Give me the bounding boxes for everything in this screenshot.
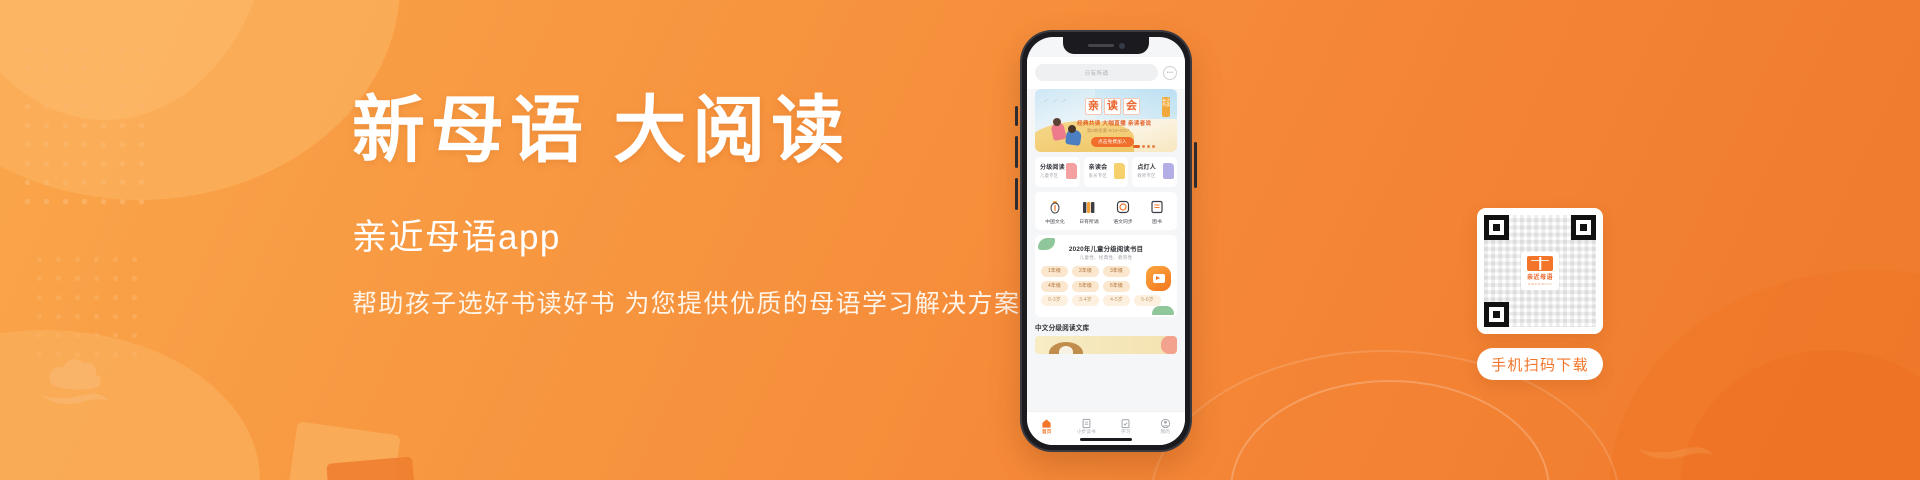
grade-chip[interactable]: 3年级 bbox=[1103, 266, 1130, 277]
booklist-title: 2020年儿童分级阅读书目 bbox=[1041, 244, 1171, 253]
ring-decoration bbox=[1230, 380, 1550, 480]
dot-pattern-decoration-2 bbox=[30, 250, 140, 370]
phone-volume-up-button bbox=[1015, 136, 1018, 168]
app-content: 日有所诵 ••• ୵ ୵ ୵ 亲 读 会 bbox=[1027, 37, 1185, 445]
download-block: 亲近母语 QINJIN MUYU 手机扫码下载 bbox=[1477, 208, 1641, 380]
books-icon bbox=[1081, 199, 1097, 215]
library-card[interactable] bbox=[1035, 336, 1177, 354]
phone-notch bbox=[1063, 37, 1149, 54]
age-chip[interactable]: 4-5岁 bbox=[1103, 295, 1130, 306]
circle-sync-icon bbox=[1115, 199, 1131, 215]
banner-subtitle: 亲近母语app bbox=[352, 217, 1032, 259]
quick-link-label: 图书 bbox=[1141, 218, 1173, 225]
bookmark-icon bbox=[1163, 163, 1174, 179]
quick-link-label: 中国文化 bbox=[1039, 218, 1071, 225]
home-icon bbox=[1041, 416, 1052, 427]
phone-screen: 日有所诵 ••• ୵ ୵ ୵ 亲 读 会 bbox=[1027, 37, 1185, 445]
open-book-logo-icon bbox=[1527, 256, 1553, 271]
quick-link-chinese-culture[interactable]: 中国文化 bbox=[1039, 199, 1071, 225]
tab-study[interactable]: 学习 bbox=[1106, 416, 1146, 435]
quick-link-textbook-sync[interactable]: 语文同步 bbox=[1107, 199, 1139, 225]
front-camera-icon bbox=[1119, 43, 1125, 49]
banner-headline: 新母语 大阅读 bbox=[352, 92, 1032, 169]
background-blob-bottom-right bbox=[1610, 270, 1920, 480]
grade-chip[interactable]: 2年级 bbox=[1072, 266, 1099, 277]
background-blob-bottom-left bbox=[0, 330, 260, 480]
book-icon bbox=[1149, 199, 1165, 215]
clipboard-check-icon bbox=[1120, 416, 1131, 427]
tab-label: 首页 bbox=[1027, 429, 1067, 435]
logo-text-cn: 亲近母语 bbox=[1527, 272, 1553, 281]
promo-child-head-1 bbox=[1053, 118, 1061, 126]
cube-decoration bbox=[283, 421, 400, 480]
age-chip[interactable]: 3-4岁 bbox=[1072, 295, 1099, 306]
cloud-decoration-icon-3 bbox=[1630, 400, 1750, 470]
grade-chip[interactable]: 4年级 bbox=[1041, 281, 1068, 292]
background-blob-top-left bbox=[0, 0, 400, 200]
age-chip-row: 0-3岁 3-4岁 4-5岁 5-6岁 bbox=[1041, 295, 1171, 306]
carousel-dot[interactable] bbox=[1152, 145, 1155, 148]
qr-code-card: 亲近母语 QINJIN MUYU bbox=[1477, 208, 1603, 334]
cube-decoration-2 bbox=[326, 456, 420, 480]
grade-chip[interactable]: 1年级 bbox=[1041, 266, 1068, 277]
quick-link-label: 日有所诵 bbox=[1073, 218, 1105, 225]
tab-label: 小步读书 bbox=[1067, 429, 1107, 435]
grade-chip[interactable]: 5年级 bbox=[1072, 281, 1099, 292]
phone-mute-switch bbox=[1015, 106, 1018, 126]
leaf-decoration-icon-2 bbox=[1152, 306, 1174, 315]
carousel-dot[interactable] bbox=[1147, 145, 1150, 148]
library-title: 中文分级阅读文库 bbox=[1035, 322, 1177, 332]
category-card-graded-reading[interactable]: 分级阅读 儿童专区 bbox=[1035, 157, 1080, 187]
birds-icon: ୵ ୵ ୵ bbox=[1044, 98, 1068, 104]
search-placeholder: 日有所诵 bbox=[1085, 69, 1109, 77]
cloud-decoration-icon-2 bbox=[40, 352, 136, 414]
tab-label: 我的 bbox=[1146, 429, 1186, 435]
phone-power-button bbox=[1194, 142, 1197, 188]
library-hand-illustration bbox=[1161, 336, 1177, 354]
promo-title-char-2: 读 bbox=[1104, 98, 1121, 115]
bookmark-icon bbox=[1066, 163, 1077, 179]
category-cards: 分级阅读 儿童专区 亲读会 家长专区 点灯人 教师专区 bbox=[1035, 157, 1177, 187]
user-icon bbox=[1160, 416, 1171, 427]
banner-tagline: 帮助孩子选好书读好书 为您提供优质的母语学习解决方案 bbox=[352, 288, 1032, 321]
promo-banner: 新母语 大阅读 亲近母语app 帮助孩子选好书读好书 为您提供优质的母语学习解决… bbox=[0, 0, 1920, 480]
quick-link-books[interactable]: 图书 bbox=[1141, 199, 1173, 225]
booklist-filters: 1年级 2年级 3年级 4年级 5年级 6年级 0-3岁 3-4岁 4- bbox=[1041, 266, 1171, 306]
phone-volume-down-button bbox=[1015, 178, 1018, 210]
carousel-dots[interactable] bbox=[1133, 145, 1155, 148]
phone-mockup: 日有所诵 ••• ୵ ୵ ୵ 亲 读 会 bbox=[1022, 32, 1190, 450]
promo-subtitle: 经典共读 大咖直播 亲读者说 bbox=[1077, 119, 1151, 127]
book-list-icon bbox=[1081, 416, 1092, 427]
bookmark-icon bbox=[1114, 163, 1125, 179]
qr-center-logo: 亲近母语 QINJIN MUYU bbox=[1521, 252, 1559, 290]
tab-home[interactable]: 首页 bbox=[1027, 416, 1067, 435]
qr-finder-top-left bbox=[1484, 215, 1509, 240]
age-chip[interactable]: 5-6岁 bbox=[1134, 295, 1161, 306]
age-chip[interactable]: 0-3岁 bbox=[1041, 295, 1068, 306]
promo-seal: 亲子共读 bbox=[1162, 97, 1170, 117]
video-play-button[interactable] bbox=[1146, 266, 1171, 291]
category-card-reading-club[interactable]: 亲读会 家长专区 bbox=[1084, 157, 1129, 187]
home-indicator bbox=[1080, 438, 1132, 441]
grade-chip[interactable]: 6年级 bbox=[1103, 281, 1130, 292]
tab-profile[interactable]: 我的 bbox=[1146, 416, 1186, 435]
video-camera-icon bbox=[1153, 274, 1165, 283]
logo-text-en: QINJIN MUYU bbox=[1528, 282, 1552, 286]
banner-copy: 新母语 大阅读 亲近母语app 帮助孩子选好书读好书 为您提供优质的母语学习解决… bbox=[352, 92, 1032, 321]
library-section: 中文分级阅读文库 bbox=[1035, 322, 1177, 354]
promo-banner-card[interactable]: ୵ ୵ ୵ 亲 读 会 亲子共读 经典共读 大咖直播 亲读者说 第8期招募·9/… bbox=[1035, 89, 1177, 152]
search-input[interactable]: 日有所诵 bbox=[1035, 64, 1158, 81]
quick-link-daily-recitation[interactable]: 日有所诵 bbox=[1073, 199, 1105, 225]
app-header: 日有所诵 ••• bbox=[1027, 57, 1185, 89]
message-icon[interactable]: ••• bbox=[1163, 66, 1177, 80]
qr-finder-top-right bbox=[1571, 215, 1596, 240]
dot-pattern-decoration bbox=[18, 40, 158, 210]
lantern-icon bbox=[1047, 199, 1063, 215]
booklist-section: 2020年儿童分级阅读书目 儿童性、经典性、教育性 1年级 2年级 3年级 4年… bbox=[1035, 235, 1177, 317]
promo-child-head-2 bbox=[1068, 125, 1076, 133]
qr-finder-bottom-left bbox=[1484, 302, 1509, 327]
promo-title-char-3: 会 bbox=[1123, 98, 1140, 115]
quick-link-label: 语文同步 bbox=[1107, 218, 1139, 225]
promo-title-char-1: 亲 bbox=[1085, 98, 1102, 115]
tab-reading[interactable]: 小步读书 bbox=[1067, 416, 1107, 435]
promo-title: 亲 读 会 bbox=[1085, 98, 1140, 115]
background-blob-bottom-right-2 bbox=[1680, 350, 1920, 480]
promo-join-button[interactable]: 点击免费加入 bbox=[1091, 137, 1134, 147]
earpiece-speaker bbox=[1088, 44, 1114, 47]
quick-link-grid: 中国文化 日有所诵 bbox=[1035, 192, 1177, 230]
carousel-dot[interactable] bbox=[1142, 145, 1145, 148]
booklist-subtitle: 儿童性、经典性、教育性 bbox=[1041, 255, 1171, 261]
download-button[interactable]: 手机扫码下载 bbox=[1477, 348, 1603, 380]
category-card-lamp-lighter[interactable]: 点灯人 教师专区 bbox=[1132, 157, 1177, 187]
tab-label: 学习 bbox=[1106, 429, 1146, 435]
promo-date: 第8期招募·9/16~9/27 bbox=[1087, 128, 1129, 134]
qr-code-image: 亲近母语 QINJIN MUYU bbox=[1484, 215, 1596, 327]
carousel-dot-active[interactable] bbox=[1133, 145, 1140, 148]
background-blob-top-left-2 bbox=[0, 0, 270, 120]
